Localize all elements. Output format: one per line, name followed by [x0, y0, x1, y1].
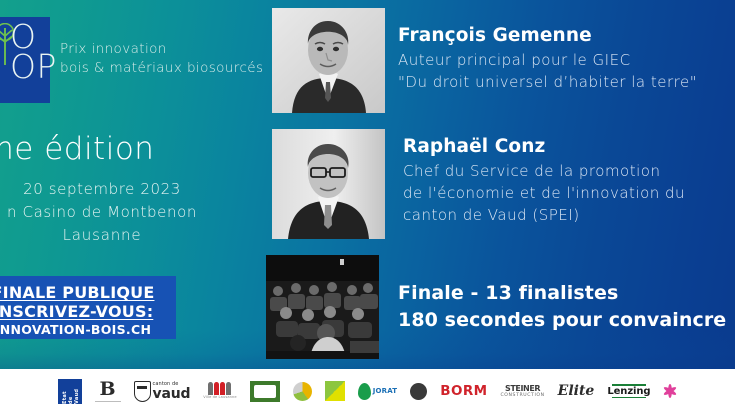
etat-de-vaud-label: Etat de Vaud: [62, 382, 80, 404]
speaker-name-1: François Gemenne: [398, 25, 697, 47]
elite-label: Elite: [558, 383, 595, 399]
b-logo-letter: B: [100, 380, 116, 399]
edition-headline: ème édition: [0, 132, 232, 166]
portrait-gemenne-image: [272, 8, 385, 113]
speaker-block-1: François Gemenne Auteur principal pour l…: [398, 25, 697, 93]
borm-label: BORM: [440, 383, 487, 399]
partner-logo-green-forest: [250, 376, 280, 406]
steiner-icon: STEINER CONSTRUCTION: [501, 384, 545, 398]
partner-logo-etat-de-vaud: Etat de Vaud: [58, 376, 82, 406]
speaker-role-2-line-1: Chef du Service de la promotion: [403, 160, 685, 182]
speaker-role-1-line-2: "Du droit universel d’habiter la terre": [398, 71, 697, 93]
partner-logo-dark-circle: [410, 376, 427, 406]
green-square-icon: [325, 381, 345, 401]
lenzing-rule-bottom: [612, 397, 646, 399]
speaker-photo-1: [272, 8, 385, 113]
partner-logo-jorat: JORAT: [358, 376, 398, 406]
finale-subtitle: 180 secondes pour convaincre: [398, 308, 726, 333]
event-details: 20 septembre 2023 n Casino de Montbenon …: [0, 178, 226, 247]
ville-de-lausanne-icon: Ville de Lausanne: [203, 382, 236, 399]
event-date: 20 septembre 2023: [0, 178, 226, 201]
portrait-conz-image: [272, 129, 385, 239]
partner-logo-bar: Etat de Vaud B canton de vaud: [0, 369, 735, 413]
cta-url[interactable]: INNOVATION-BOIS.CH: [0, 322, 176, 337]
lenzing-label: Lenzing: [607, 386, 650, 397]
pink-flower-icon: [663, 384, 677, 398]
lausanne-label: Ville de Lausanne: [203, 395, 236, 399]
tagline: Prix innovation bois & matériaux biosour…: [60, 40, 270, 78]
partner-logo-pink-flower: [663, 376, 677, 406]
steiner-sublabel: CONSTRUCTION: [501, 393, 545, 398]
cta-box[interactable]: FINALE PUBLIQUE INSCRIVEZ-VOUS: INNOVATI…: [0, 276, 176, 339]
partner-logo-steiner: STEINER CONSTRUCTION: [501, 376, 545, 406]
partner-logo-b: B: [95, 376, 121, 406]
partner-logo-ville-de-lausanne: Ville de Lausanne: [203, 376, 236, 406]
partner-logo-elite: Elite: [558, 376, 595, 406]
partner-logo-green-square: [325, 376, 345, 406]
dark-circle-icon: [410, 383, 427, 400]
tagline-line-2: bois & matériaux biosourcés: [60, 59, 270, 78]
canton-label-big: vaud: [153, 387, 191, 401]
audience-image: [266, 255, 379, 359]
audience-photo: [266, 255, 379, 359]
speaker-role-2-line-2: de l'économie et de l'innovation du: [403, 182, 685, 204]
b-logo-icon: B: [95, 380, 121, 402]
brand-letter-line-2: OP: [10, 52, 57, 82]
green-forest-icon: [250, 381, 280, 402]
finale-block: Finale - 13 finalistes 180 secondes pour…: [398, 281, 726, 335]
cta-line-2: INSCRIVEZ-VOUS:: [0, 302, 176, 321]
jorat-icon: JORAT: [358, 383, 398, 400]
partner-logo-canton-de-vaud: canton de vaud: [134, 376, 191, 406]
event-city: Lausanne: [0, 224, 226, 247]
yellow-circle-icon: [293, 382, 312, 401]
green-drop-icon: [358, 383, 371, 400]
steiner-label: STEINER: [505, 384, 540, 393]
tagline-line-1: Prix innovation: [60, 40, 270, 59]
speaker-photo-2: [272, 129, 385, 239]
speaker-block-2: Raphaël Conz Chef du Service de la promo…: [403, 136, 685, 226]
speaker-role-1-line-1: Auteur principal pour le GIEC: [398, 49, 697, 71]
jorat-label: JORAT: [373, 388, 398, 395]
vaud-shield-icon: [134, 381, 151, 402]
etat-de-vaud-icon: Etat de Vaud: [58, 379, 82, 404]
partner-logo-borm: BORM: [440, 376, 487, 406]
canton-de-vaud-icon: canton de vaud: [134, 381, 191, 402]
cta-line-1: FINALE PUBLIQUE: [0, 283, 176, 302]
b-logo-rule: [95, 401, 121, 402]
event-venue: n Casino de Montbenon: [0, 201, 226, 224]
partner-logo-yellow-circle: [293, 376, 312, 406]
speaker-name-2: Raphaël Conz: [403, 136, 685, 158]
partner-logo-lenzing: Lenzing: [607, 376, 650, 406]
lausanne-figures-icon: [208, 382, 231, 395]
brand-logo-tile: O OP: [0, 17, 50, 103]
lenzing-icon: Lenzing: [607, 384, 650, 398]
finale-title: Finale - 13 finalistes: [398, 281, 726, 306]
speaker-role-2-line-3: canton de Vaud (SPEI): [403, 204, 685, 226]
brand-letters: O OP: [10, 22, 57, 82]
poster-canvas: O OP Prix innovation bois & matériaux bi…: [0, 0, 735, 413]
